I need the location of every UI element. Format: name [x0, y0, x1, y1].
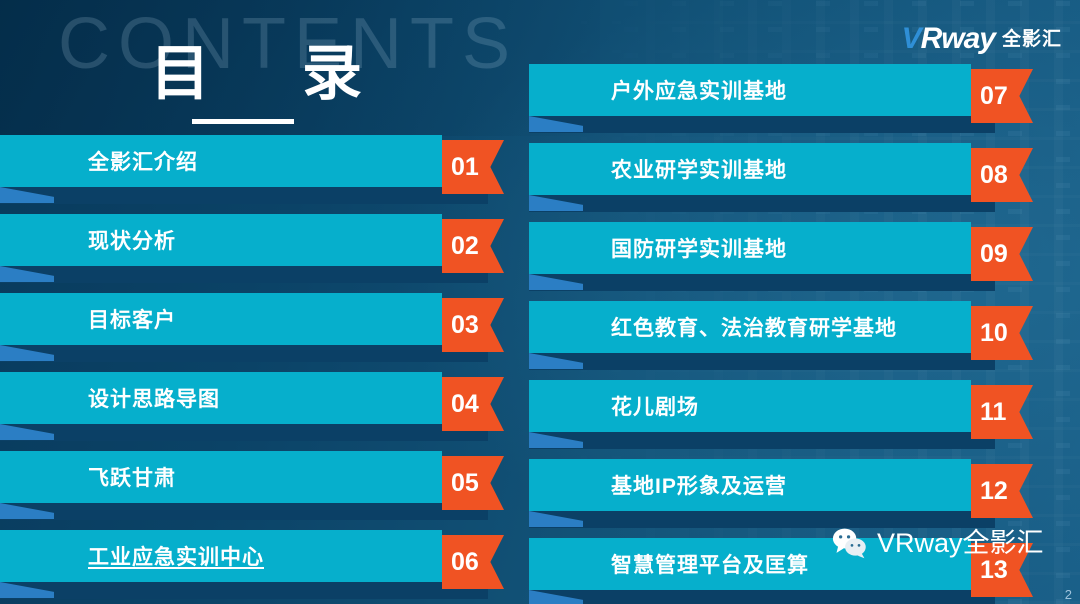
toc-item-label: 飞跃甘肃 [88, 462, 176, 492]
toc-item-number: 13 [980, 558, 1008, 583]
toc-item-number: 07 [980, 84, 1008, 109]
toc-item-number-flag[interactable]: 08 [971, 148, 1033, 202]
toc-item-number-flag[interactable]: 05 [442, 456, 504, 510]
toc-item-label: 花儿剧场 [611, 391, 699, 421]
toc-item-number: 09 [980, 242, 1008, 267]
toc-item-number: 10 [980, 321, 1008, 346]
toc-item-number-flag[interactable]: 03 [442, 298, 504, 352]
toc-item-label: 农业研学实训基地 [611, 154, 787, 184]
toc-item-number-flag[interactable]: 04 [442, 377, 504, 431]
toc-item-bar[interactable]: 智慧管理平台及匡算 [529, 538, 971, 590]
toc-item-number: 11 [980, 400, 1006, 425]
ribbon-shadow-band [529, 195, 995, 212]
toc-item-bar[interactable]: 基地IP形象及运营 [529, 459, 971, 511]
toc-item-bar[interactable]: 飞跃甘肃 [0, 451, 442, 503]
ribbon-shadow-band [529, 432, 995, 449]
logo-wordmark: VRway [902, 24, 995, 54]
ribbon-shadow-band [0, 503, 488, 520]
toc-item-bar[interactable]: 设计思路导图 [0, 372, 442, 424]
toc-item-number: 06 [451, 550, 479, 575]
toc-item-number: 02 [451, 234, 479, 259]
toc-item-number-flag[interactable]: 11 [971, 385, 1033, 439]
ribbon-shadow-band [529, 353, 995, 370]
toc-item-bar[interactable]: 户外应急实训基地 [529, 64, 971, 116]
toc-item-label: 户外应急实训基地 [611, 75, 787, 105]
toc-item-number: 03 [451, 313, 479, 338]
slide-root: CONTENTS 目 录 VRway 全影汇 全影汇介绍01现状分析02目标客户… [0, 0, 1080, 604]
toc-item-number-flag[interactable]: 09 [971, 227, 1033, 281]
toc-item-label: 工业应急实训中心 [88, 541, 264, 571]
ribbon-shadow-band [529, 590, 995, 604]
toc-item-number: 05 [451, 471, 479, 496]
toc-item-bar[interactable]: 红色教育、法治教育研学基地 [529, 301, 971, 353]
toc-item-number: 12 [980, 479, 1008, 504]
ribbon-shadow-band [0, 266, 488, 283]
toc-item-number-flag[interactable]: 02 [442, 219, 504, 273]
toc-item-number: 08 [980, 163, 1008, 188]
brand-logo: VRway 全影汇 [902, 22, 1062, 56]
toc-item-label: 智慧管理平台及匡算 [611, 549, 809, 579]
toc-item-bar[interactable]: 工业应急实训中心 [0, 530, 442, 582]
ribbon-shadow-band [529, 116, 995, 133]
ribbon-shadow-band [0, 582, 488, 599]
toc-item-bar[interactable]: 花儿剧场 [529, 380, 971, 432]
toc-item-label: 全影汇介绍 [88, 146, 198, 176]
page-title: 目 录 [150, 44, 378, 104]
toc-item-number-flag[interactable]: 13 [971, 543, 1033, 597]
toc-item-label: 红色教育、法治教育研学基地 [611, 312, 897, 342]
toc-item-bar[interactable]: 农业研学实训基地 [529, 143, 971, 195]
logo-v-letter: V [902, 22, 921, 55]
ribbon-shadow-band [0, 424, 488, 441]
toc-item-bar[interactable]: 目标客户 [0, 293, 442, 345]
toc-item-number: 01 [451, 155, 479, 180]
toc-item-label: 设计思路导图 [88, 383, 220, 413]
toc-item-bar[interactable]: 全影汇介绍 [0, 135, 442, 187]
toc-item-number-flag[interactable]: 12 [971, 464, 1033, 518]
title-underline [192, 119, 294, 124]
ribbon-shadow-band [0, 345, 488, 362]
toc-item-number: 04 [451, 392, 479, 417]
logo-rway-letters: Rway [921, 22, 995, 55]
page-number: 2 [1065, 588, 1072, 601]
ribbon-shadow-band [0, 187, 488, 204]
toc-item-label: 国防研学实训基地 [611, 233, 787, 263]
toc-item-label: 现状分析 [88, 225, 176, 255]
logo-chinese-name: 全影汇 [1002, 30, 1062, 49]
ribbon-shadow-band [529, 511, 995, 528]
toc-item-number-flag[interactable]: 10 [971, 306, 1033, 360]
toc-item-number-flag[interactable]: 06 [442, 535, 504, 589]
ribbon-shadow-band [529, 274, 995, 291]
toc-item-label: 目标客户 [88, 304, 176, 334]
toc-item-number-flag[interactable]: 01 [442, 140, 504, 194]
toc-item-bar[interactable]: 现状分析 [0, 214, 442, 266]
toc-item-bar[interactable]: 国防研学实训基地 [529, 222, 971, 274]
toc-item-label: 基地IP形象及运营 [611, 470, 787, 500]
